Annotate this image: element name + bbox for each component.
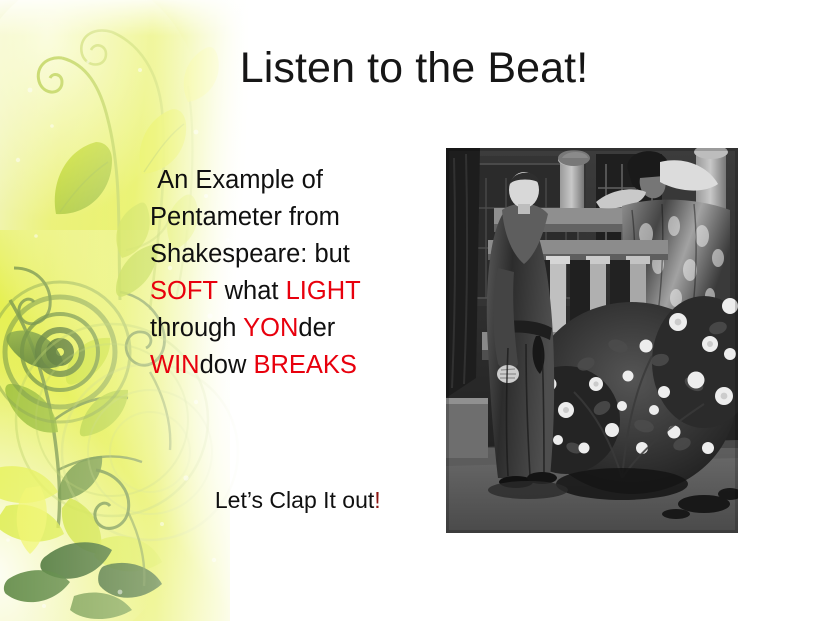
verse-text-run: der — [298, 314, 335, 342]
verse-line: Pentameter from — [150, 199, 402, 236]
verse-text-run: dow — [200, 351, 254, 379]
verse-text-block: An Example ofPentameter fromShakespeare:… — [150, 162, 402, 384]
clap-instruction-text: Let’s Clap It out — [215, 487, 374, 513]
stressed-syllable: WIN — [150, 351, 200, 379]
verse-text-run: through — [150, 314, 243, 342]
clap-instruction: Let’s Clap It out! — [150, 455, 420, 545]
slide-title: Listen to the Beat! — [0, 44, 828, 93]
verse-line: Shakespeare: but — [150, 236, 402, 273]
stressed-syllable: SOFT — [150, 277, 218, 305]
stressed-syllable: LIGHT — [286, 277, 361, 305]
stressed-syllable: YON — [243, 314, 298, 342]
verse-line: through YONder — [150, 310, 402, 347]
verse-text-run: what — [218, 277, 286, 305]
romeo-and-juliet-balcony-photo — [446, 148, 738, 533]
verse-line: WINdow BREAKS — [150, 347, 402, 384]
stressed-syllable: BREAKS — [253, 351, 356, 379]
clap-instruction-punctuation: ! — [374, 487, 380, 513]
balcony-scene-illustration — [446, 148, 738, 533]
verse-line: An Example of — [150, 162, 402, 199]
presentation-slide: Listen to the Beat! An Example ofPentame… — [0, 0, 828, 621]
verse-text-run: Shakespeare: but — [150, 240, 350, 268]
verse-text-run: Pentameter from — [150, 203, 340, 231]
verse-text-run: An Example of — [150, 166, 323, 194]
verse-line: SOFT what LIGHT — [150, 273, 402, 310]
